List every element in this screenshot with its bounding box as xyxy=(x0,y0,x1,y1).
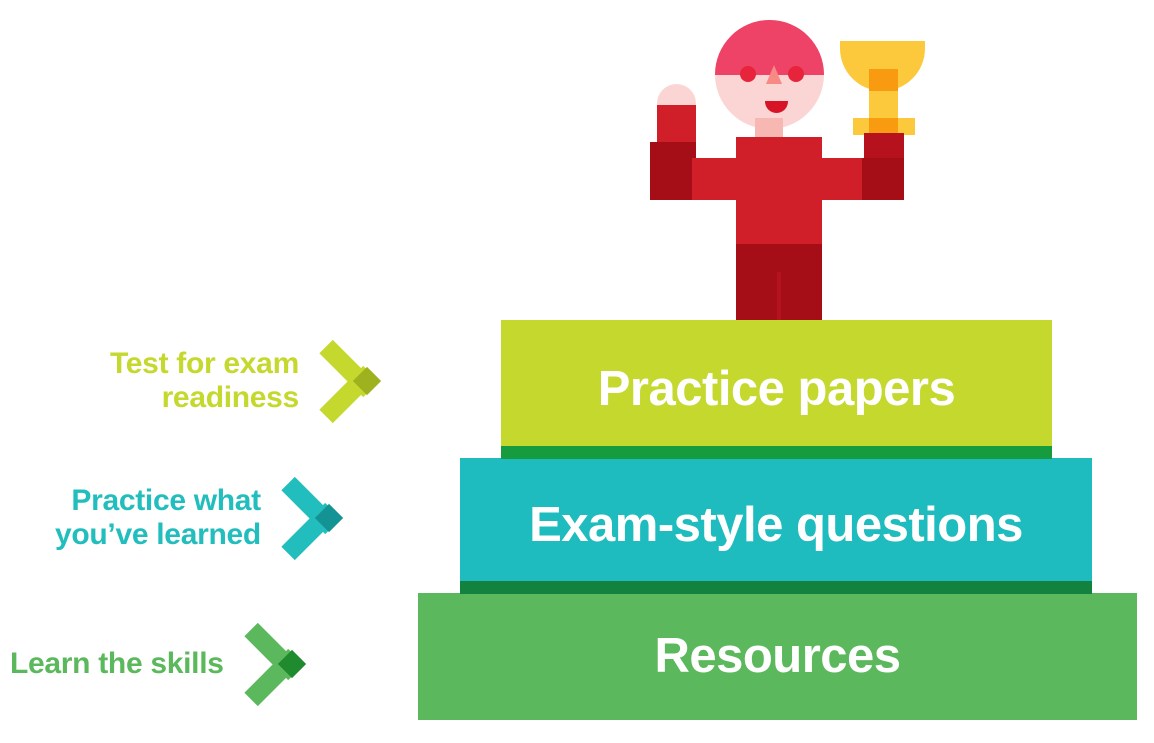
right-forearm-sleeve xyxy=(864,133,904,159)
pyramid-bar-resources[interactable]: Resources xyxy=(418,593,1137,720)
right-eye xyxy=(788,66,804,82)
leg-gap xyxy=(777,272,781,320)
torso xyxy=(736,158,822,246)
pyramid-bar-practice-papers[interactable]: Practice papers xyxy=(501,320,1052,458)
pyramid-bar-label: Exam-style questions xyxy=(529,501,1023,550)
caption-text: Learn the skills xyxy=(10,647,224,681)
caption-text: Practice what you’ve learned xyxy=(55,484,261,551)
infographic-canvas: Resources Exam-style questions Practice … xyxy=(0,0,1154,743)
chevron-right-icon xyxy=(246,628,308,700)
chevron-right-icon xyxy=(283,482,345,554)
caption-text: Test for exam readiness xyxy=(110,347,299,414)
bar-shadow-top xyxy=(501,446,1052,459)
pyramid-bar-label: Resources xyxy=(654,632,900,681)
left-arm-cuff-outer xyxy=(650,158,692,200)
chevron-right-icon xyxy=(321,345,383,417)
pyramid-bar-label: Practice papers xyxy=(598,365,956,414)
nose xyxy=(766,65,782,84)
caption-resources: Learn the skills xyxy=(10,628,308,700)
pyramid-bar-exam-style-questions[interactable]: Exam-style questions xyxy=(460,458,1092,593)
bar-shadow-middle xyxy=(460,581,1092,594)
right-arm-cuff-outer xyxy=(862,158,904,200)
left-eye xyxy=(740,66,756,82)
caption-practice-papers: Test for exam readiness xyxy=(110,345,383,417)
caption-exam-style-questions: Practice what you’ve learned xyxy=(55,482,345,554)
trophy-stem-accent xyxy=(869,69,898,91)
